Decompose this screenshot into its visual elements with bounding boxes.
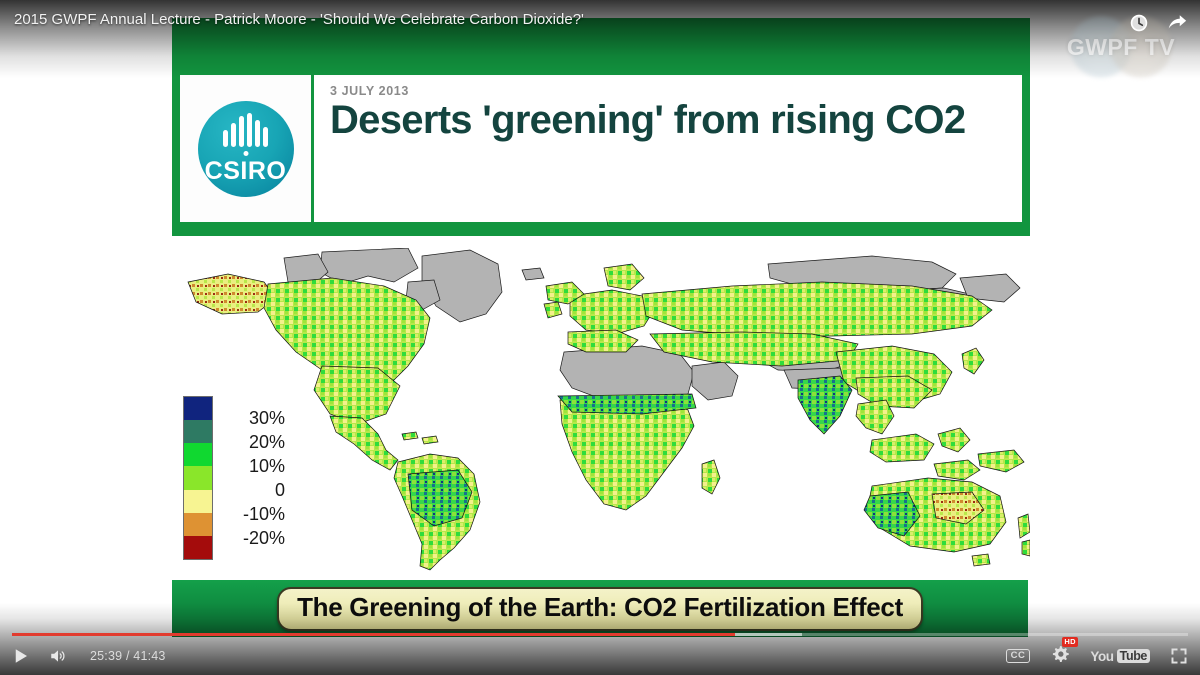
- clock-icon: [1128, 12, 1150, 34]
- volume-icon: [48, 647, 68, 665]
- map-svg: [172, 248, 1030, 578]
- play-icon: [12, 647, 30, 665]
- legend-band-neg10: [184, 490, 212, 513]
- legend-band-20: [184, 420, 212, 443]
- legend-band-30: [184, 397, 212, 420]
- fullscreen-icon: [1170, 647, 1188, 665]
- youtube-logo-tube: Tube: [1117, 649, 1150, 663]
- world-vegetation-map: [172, 248, 1030, 578]
- map-legend: 30% 20% 10% 0 -10% -20%: [183, 396, 293, 560]
- legend-color-bar: [183, 396, 213, 560]
- legend-label-10: 10%: [249, 457, 285, 475]
- csiro-masthead: CSIRO 3 JULY 2013 Deserts 'greening' fro…: [172, 18, 1030, 236]
- youtube-logo[interactable]: You Tube: [1090, 649, 1150, 664]
- legend-label-0: 0: [275, 481, 285, 499]
- share-arrow-icon: [1166, 12, 1188, 34]
- legend-label-neg20: -20%: [243, 529, 285, 547]
- volume-button[interactable]: [48, 647, 68, 665]
- fullscreen-button[interactable]: [1170, 647, 1188, 665]
- logo-cell: CSIRO: [180, 75, 314, 222]
- time-display: 25:39 / 41:43: [90, 649, 166, 663]
- play-button[interactable]: [12, 647, 30, 665]
- watermark-text: GWPF TV: [1067, 34, 1175, 61]
- csiro-wordmark: CSIRO: [205, 159, 287, 184]
- captions-button[interactable]: CC: [1006, 649, 1031, 663]
- watch-later-button[interactable]: [1128, 12, 1150, 34]
- legend-band-0: [184, 466, 212, 489]
- legend-band-neg20: [184, 513, 212, 536]
- csiro-bars-icon: [223, 113, 269, 147]
- headline-cell: 3 JULY 2013 Deserts 'greening' from risi…: [314, 75, 1022, 222]
- legend-label-20: 20%: [249, 433, 285, 451]
- legend-band-neg30: [184, 536, 212, 559]
- settings-button[interactable]: HD: [1050, 644, 1070, 669]
- controls-left: 25:39 / 41:43: [12, 647, 166, 665]
- article-date: 3 JULY 2013: [330, 84, 1008, 98]
- legend-band-10: [184, 443, 212, 466]
- share-button[interactable]: [1166, 12, 1188, 34]
- video-title[interactable]: 2015 GWPF Annual Lecture - Patrick Moore…: [14, 11, 584, 28]
- legend-label-neg10: -10%: [243, 505, 285, 523]
- csiro-logo: CSIRO: [198, 101, 294, 197]
- legend-labels: 30% 20% 10% 0 -10% -20%: [213, 396, 287, 560]
- top-right-actions: [1128, 12, 1188, 34]
- caption-text: The Greening of the Earth: CO2 Fertiliza…: [297, 592, 903, 623]
- slide-content: CSIRO 3 JULY 2013 Deserts 'greening' fro…: [0, 0, 1200, 675]
- hd-badge: HD: [1062, 637, 1078, 647]
- slide-caption-banner: The Greening of the Earth: CO2 Fertiliza…: [172, 580, 1028, 637]
- gear-icon: [1050, 644, 1070, 664]
- video-player: CSIRO 3 JULY 2013 Deserts 'greening' fro…: [0, 0, 1200, 675]
- legend-label-30: 30%: [249, 409, 285, 427]
- progress-played: [12, 633, 735, 636]
- csiro-dot-icon: [243, 151, 248, 156]
- caption-pill: The Greening of the Earth: CO2 Fertiliza…: [277, 587, 923, 631]
- player-controls: 25:39 / 41:43 CC HD You Tube: [0, 637, 1200, 675]
- article-headline: Deserts 'greening' from rising CO2: [330, 100, 1008, 141]
- youtube-logo-you: You: [1090, 649, 1113, 664]
- controls-right: CC HD You Tube: [1006, 644, 1188, 669]
- masthead-inner: CSIRO 3 JULY 2013 Deserts 'greening' fro…: [180, 75, 1022, 222]
